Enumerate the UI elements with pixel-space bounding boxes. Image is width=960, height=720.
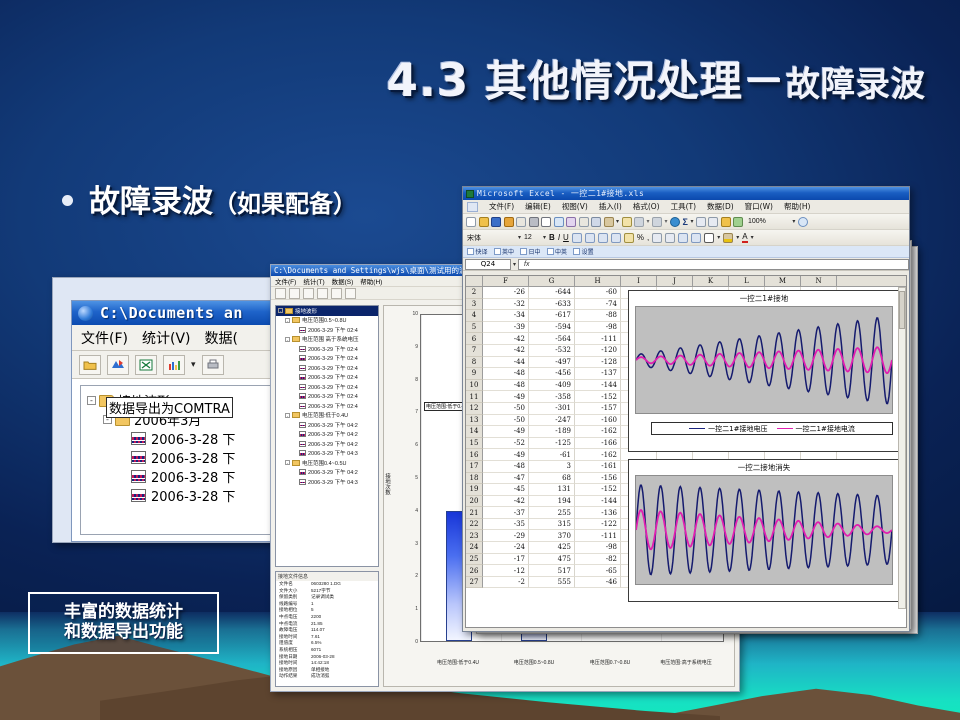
folder-icon — [292, 317, 300, 323]
sort-ascending-icon[interactable] — [696, 217, 706, 227]
excel-icon[interactable] — [303, 288, 314, 299]
scrollbar-thumb[interactable] — [899, 291, 905, 329]
table-cell[interactable]: -617 — [529, 310, 575, 322]
row-header[interactable]: 8 — [466, 357, 483, 369]
font-color-icon[interactable]: A — [742, 233, 747, 243]
y-tick-label: 6 — [415, 442, 418, 448]
help-icon[interactable] — [798, 217, 808, 227]
autosum-dropdown-icon[interactable]: ▾ — [690, 218, 693, 225]
left-window[interactable]: C:\Documents an 文件(F) 统计(V) 数据( ▾ -接地波形-… — [52, 277, 280, 543]
y-tick-label: 1 — [415, 606, 418, 612]
table-cell[interactable]: -61 — [529, 449, 575, 461]
table-cell[interactable]: -594 — [529, 322, 575, 334]
info-value: 成功消弧 — [311, 673, 329, 680]
increase-decimal-icon[interactable] — [652, 233, 662, 243]
info-row: 中点电压2200 — [276, 614, 378, 621]
waveform-file-icon — [299, 374, 306, 380]
merge-cells-icon[interactable] — [611, 233, 621, 243]
bold-button[interactable]: B — [549, 233, 555, 242]
comma-icon[interactable]: , — [647, 233, 649, 242]
decrease-indent-icon[interactable] — [678, 233, 688, 243]
info-key: 文件名 — [279, 581, 311, 588]
row-header[interactable]: 12 — [466, 403, 483, 415]
table-cell[interactable]: -456 — [529, 368, 575, 380]
fill-color-dropdown-icon[interactable]: ▾ — [736, 234, 739, 241]
table-cell[interactable]: -50 — [483, 415, 529, 427]
table-cell[interactable]: 131 — [529, 484, 575, 496]
bullet-dot-icon — [62, 195, 73, 206]
menu-item-window[interactable]: 窗口(W) — [745, 201, 773, 212]
redo-icon[interactable] — [652, 217, 662, 227]
column-headers[interactable]: FGHIJKLMN — [466, 276, 906, 287]
table-cell[interactable]: 194 — [529, 496, 575, 508]
paste-icon[interactable] — [604, 217, 614, 227]
menu-item-format[interactable]: 格式(O) — [633, 201, 660, 212]
drawing-icon[interactable] — [733, 217, 743, 227]
table-cell[interactable]: -152 — [575, 484, 621, 496]
tree-item-label: 2006-3-29 下午 02:4 — [308, 402, 358, 410]
export-icon[interactable] — [289, 288, 300, 299]
font-size-dropdown-icon[interactable]: ▾ — [543, 234, 546, 241]
info-value: 2200 — [311, 614, 321, 621]
y-tick-label: 5 — [415, 475, 418, 481]
name-box-dropdown-icon[interactable]: ▾ — [513, 261, 516, 268]
table-cell[interactable]: 370 — [529, 530, 575, 542]
table-cell[interactable]: -111 — [575, 530, 621, 542]
tree-item[interactable]: 2006-3-28 下 — [87, 429, 277, 448]
table-cell[interactable]: -48 — [483, 368, 529, 380]
tree-item[interactable]: -电压范围0.4~0.5U — [276, 458, 378, 468]
print-icon[interactable] — [529, 217, 539, 227]
tree-item-label: 接地波形 — [295, 307, 317, 315]
print-icon[interactable] — [202, 355, 224, 375]
table-cell[interactable]: 3 — [529, 461, 575, 473]
tree-item-label: 2006-3-28 下 — [151, 467, 235, 486]
undo-icon[interactable] — [634, 217, 644, 227]
menu-item-statistics[interactable]: 统计(T) — [303, 276, 324, 286]
save-icon[interactable] — [491, 217, 501, 227]
table-cell[interactable]: -162 — [575, 426, 621, 438]
table-cell[interactable]: -358 — [529, 391, 575, 403]
menu-item-tools[interactable]: 工具(T) — [671, 201, 696, 212]
tree-item[interactable]: 2006-3-29 下午 02:4 — [276, 325, 378, 335]
excel-grid[interactable]: FGHIJKLMN 2-26-644-603-32-633-744-34-617… — [465, 275, 907, 628]
table-cell[interactable]: -111 — [575, 333, 621, 345]
tree-item[interactable]: 2006-3-29 下午 02:4 — [276, 373, 378, 383]
x-tick-label: 电压范围:低于0.4U — [437, 659, 479, 666]
row-header[interactable]: 2 — [466, 287, 483, 299]
excel-menubar[interactable]: 文件(F) 编辑(E) 视图(V) 插入(I) 格式(O) 工具(T) 数据(D… — [463, 200, 909, 214]
tree-item[interactable]: 2006-3-28 下 — [87, 467, 277, 486]
tree-expander-icon[interactable]: - — [87, 396, 96, 405]
menu-item-file[interactable]: 文件(F) — [489, 201, 514, 212]
folder-icon — [292, 412, 300, 418]
bar-chart-icon[interactable] — [317, 288, 328, 299]
table-cell[interactable]: -409 — [529, 380, 575, 392]
excel-window[interactable]: Microsoft Excel - 一控二1#接地.xls 文件(F) 编辑(E… — [462, 186, 910, 632]
tree-item[interactable]: -电压范围 高于系统电压 — [276, 335, 378, 345]
table-cell[interactable]: 68 — [529, 473, 575, 485]
table-cell[interactable]: -26 — [483, 287, 529, 299]
column-header[interactable]: N — [801, 276, 837, 286]
tree-item[interactable]: -接地波形 — [276, 306, 378, 316]
row-header[interactable]: 15 — [466, 438, 483, 450]
left-window-title: C:\Documents an — [100, 304, 243, 322]
table-cell[interactable]: -42 — [483, 345, 529, 357]
print-icon[interactable] — [331, 288, 342, 299]
table-cell[interactable]: -32 — [483, 299, 529, 311]
table-cell[interactable]: -52 — [483, 438, 529, 450]
tree-expander-icon[interactable]: - — [285, 337, 290, 342]
tree-item-label: 2006-3-29 下午 04:2 — [308, 440, 358, 448]
table-cell[interactable]: -144 — [575, 496, 621, 508]
table-cell[interactable]: 475 — [529, 554, 575, 566]
underline-button[interactable]: U — [563, 233, 569, 242]
row-header[interactable]: 11 — [466, 391, 483, 403]
lang-label-1: 英中 — [502, 247, 514, 256]
percent-icon[interactable]: % — [637, 233, 644, 242]
tree-item[interactable]: 2006-3-29 下午 04:3 — [276, 477, 378, 487]
print-preview-icon[interactable] — [541, 217, 551, 227]
column-header[interactable]: G — [529, 276, 575, 286]
table-cell[interactable]: -42 — [483, 333, 529, 345]
menu-item-data[interactable]: 数据(S) — [332, 276, 354, 286]
borders-icon[interactable] — [704, 233, 714, 243]
key-icon[interactable] — [345, 288, 356, 299]
tree-item[interactable]: 2006-3-29 下午 04:2 — [276, 430, 378, 440]
table-cell[interactable]: -45 — [483, 484, 529, 496]
table-cell[interactable]: -49 — [483, 426, 529, 438]
table-cell[interactable]: -49 — [483, 449, 529, 461]
tree-item[interactable]: 2006-3-29 下午 04:2 — [276, 420, 378, 430]
paste-dropdown-icon[interactable]: ▾ — [616, 218, 619, 225]
open-folder-icon[interactable] — [79, 355, 101, 375]
increase-indent-icon[interactable] — [691, 233, 701, 243]
table-cell[interactable]: -24 — [483, 542, 529, 554]
table-cell[interactable]: -247 — [529, 415, 575, 427]
table-cell[interactable]: -157 — [575, 403, 621, 415]
table-cell[interactable]: -497 — [529, 357, 575, 369]
menu-item-help[interactable]: 帮助(H) — [784, 201, 811, 212]
excel-vertical-scrollbar[interactable] — [898, 287, 906, 609]
table-cell[interactable]: -644 — [529, 287, 575, 299]
table-cell[interactable]: -35 — [483, 519, 529, 531]
font-name-dropdown-icon[interactable]: ▾ — [518, 234, 521, 241]
column-header[interactable]: M — [765, 276, 801, 286]
lang-settings[interactable]: 设置 — [573, 247, 594, 256]
legend-line-current — [777, 428, 793, 429]
left-window-menubar[interactable]: 文件(F) 统计(V) 数据( — [72, 325, 278, 351]
lang-zh-en[interactable]: 中英 — [547, 247, 568, 256]
table-cell[interactable]: -98 — [575, 542, 621, 554]
column-header[interactable]: J — [657, 276, 693, 286]
info-value: 1 — [311, 601, 314, 608]
table-cell[interactable]: 315 — [529, 519, 575, 531]
row-header[interactable]: 21 — [466, 507, 483, 519]
row-header[interactable]: 26 — [466, 565, 483, 577]
table-cell[interactable]: 255 — [529, 507, 575, 519]
table-cell[interactable]: -189 — [529, 426, 575, 438]
tree-item-label: 电压范围0.4~0.5U — [302, 459, 346, 467]
table-cell[interactable]: -42 — [483, 496, 529, 508]
permission-icon[interactable] — [504, 217, 514, 227]
row-header[interactable]: 7 — [466, 345, 483, 357]
italic-button[interactable]: I — [558, 233, 560, 242]
table-cell[interactable]: -60 — [575, 287, 621, 299]
menu-item-data[interactable]: 数据(D) — [707, 201, 734, 212]
autosum-icon[interactable]: Σ — [683, 217, 688, 227]
waveform-file-icon — [299, 384, 306, 390]
row-header[interactable]: 13 — [466, 415, 483, 427]
tree-item[interactable]: 2006-3-29 下午 04:2 — [276, 468, 378, 478]
lang-label-4: 设置 — [582, 247, 594, 256]
align-center-icon[interactable] — [585, 233, 595, 243]
chart2-title: 一控二接地消失 — [629, 460, 899, 473]
left-window-toolbar[interactable]: ▾ — [72, 351, 278, 379]
table-cell[interactable]: -633 — [529, 299, 575, 311]
table-cell[interactable]: -44 — [483, 357, 529, 369]
row-header[interactable]: 5 — [466, 322, 483, 334]
row-header[interactable]: 20 — [466, 496, 483, 508]
zoom-dropdown-icon[interactable]: ▾ — [792, 218, 795, 225]
tree-item[interactable]: 2006-3-29 下午 04:3 — [276, 449, 378, 459]
email-icon[interactable] — [516, 217, 526, 227]
align-left-icon[interactable] — [572, 233, 582, 243]
gear-icon — [573, 248, 580, 255]
bar-chart-icon[interactable] — [163, 355, 185, 375]
table-cell[interactable]: -2 — [483, 577, 529, 589]
menu-item-file[interactable]: 文件(F) — [275, 276, 296, 286]
table-cell[interactable]: -166 — [575, 438, 621, 450]
row-header[interactable]: 25 — [466, 554, 483, 566]
row-header[interactable]: 19 — [466, 484, 483, 496]
table-cell[interactable]: -46 — [575, 577, 621, 589]
lang-en-zh[interactable]: 英中 — [494, 247, 515, 256]
tree-item[interactable]: 2006-3-28 下 — [87, 448, 277, 467]
info-row: 阻值度6.5% — [276, 640, 378, 647]
table-cell[interactable]: -161 — [575, 461, 621, 473]
left-window-titlebar[interactable]: C:\Documents an — [72, 301, 278, 325]
tree-item[interactable]: 2006-3-29 下午 02:4 — [276, 344, 378, 354]
column-header[interactable]: I — [621, 276, 657, 286]
table-cell[interactable]: -122 — [575, 519, 621, 531]
table-cell[interactable]: -39 — [483, 322, 529, 334]
row-header[interactable]: 14 — [466, 426, 483, 438]
title-tail: 故障录波 — [786, 65, 926, 105]
row-header[interactable]: 18 — [466, 473, 483, 485]
tree-expander-icon[interactable]: - — [285, 460, 290, 465]
font-size-box[interactable]: 12 — [524, 234, 540, 241]
mid-window-tree[interactable]: -接地波形-电压范围0.5~0.8U2006-3-29 下午 02:4-电压范围… — [275, 305, 379, 567]
column-header[interactable]: K — [693, 276, 729, 286]
tree-item[interactable]: 2006-3-29 下午 04:2 — [276, 439, 378, 449]
borders-dropdown-icon[interactable]: ▾ — [717, 234, 720, 241]
table-cell[interactable]: -162 — [575, 449, 621, 461]
table-cell[interactable]: -47 — [483, 473, 529, 485]
table-cell[interactable]: -152 — [575, 391, 621, 403]
column-header[interactable]: H — [575, 276, 621, 286]
row-header[interactable]: 27 — [466, 577, 483, 589]
table-cell[interactable]: -74 — [575, 299, 621, 311]
excel-icon[interactable] — [135, 355, 157, 375]
waveform-svg — [636, 476, 892, 584]
menu-item-file[interactable]: 文件(F) — [81, 328, 128, 348]
row-header[interactable]: 22 — [466, 519, 483, 531]
table-cell[interactable]: -34 — [483, 310, 529, 322]
row-header[interactable]: 3 — [466, 299, 483, 311]
table-cell[interactable]: -156 — [575, 473, 621, 485]
caption-line-2: 和数据导出功能 — [64, 623, 183, 643]
excel-formatting-toolbar[interactable]: 宋体 ▾ 12 ▾ B I U % , ▾ ▾ A ▾ — [463, 230, 909, 246]
info-value: 14:42:18 — [311, 660, 329, 667]
tree-item[interactable]: 2006-3-29 下午 02:4 — [276, 382, 378, 392]
chart-y-axis: 012345678910 — [396, 314, 420, 642]
menu-item-insert[interactable]: 插入(I) — [599, 201, 622, 212]
undo-dropdown-icon[interactable]: ▾ — [647, 218, 650, 225]
info-key: 动作结果 — [279, 673, 311, 680]
open-icon[interactable] — [479, 217, 489, 227]
table-cell[interactable]: -160 — [575, 415, 621, 427]
info-value: 6071 — [311, 647, 321, 654]
hyperlink-icon[interactable] — [670, 217, 680, 227]
row-header[interactable]: 17 — [466, 461, 483, 473]
column-header[interactable]: L — [729, 276, 765, 286]
info-value: 114.07 — [311, 627, 325, 634]
menu-item-statistics[interactable]: 统计(V) — [142, 328, 191, 348]
table-cell[interactable]: -82 — [575, 554, 621, 566]
excel-app-icon — [466, 190, 474, 198]
row-header[interactable]: 4 — [466, 310, 483, 322]
tree-item-label: 2006-3-29 下午 04:3 — [308, 449, 358, 457]
table-cell[interactable]: -48 — [483, 380, 529, 392]
tree-item[interactable]: 2006-3-29 下午 02:4 — [276, 363, 378, 373]
menu-item-view[interactable]: 视图(V) — [562, 201, 588, 212]
table-cell[interactable]: -136 — [575, 507, 621, 519]
open-folder-icon[interactable] — [275, 288, 286, 299]
table-cell[interactable]: -65 — [575, 565, 621, 577]
tree-expander-icon[interactable]: - — [278, 308, 283, 313]
table-cell[interactable]: -120 — [575, 345, 621, 357]
tree-item[interactable]: 2006-3-29 下午 02:4 — [276, 401, 378, 411]
tree-item-label: 2006-3-29 下午 04:2 — [308, 468, 358, 476]
table-cell[interactable]: -29 — [483, 530, 529, 542]
excel-titlebar[interactable]: Microsoft Excel - 一控二1#接地.xls — [463, 187, 909, 200]
excel-formula-bar[interactable]: Q24 ▾ — [463, 258, 909, 271]
currency-icon[interactable] — [624, 233, 634, 243]
research-icon[interactable] — [566, 217, 576, 227]
tree-item[interactable]: 2006-3-29 下午 02:4 — [276, 392, 378, 402]
copy-icon[interactable] — [591, 217, 601, 227]
table-cell[interactable]: -301 — [529, 403, 575, 415]
legend-line-voltage — [689, 428, 705, 429]
excel-standard-toolbar[interactable]: ▾ ▾ ▾ Σ ▾ 100% ▾ — [463, 214, 909, 230]
chart2-plot-area — [635, 475, 893, 585]
formula-input[interactable] — [518, 259, 909, 270]
cut-icon[interactable] — [579, 217, 589, 227]
tree-expander-icon[interactable]: - — [285, 413, 290, 418]
export-icon[interactable] — [107, 355, 129, 375]
table-cell[interactable]: -125 — [529, 438, 575, 450]
tree-item[interactable]: 2006-3-28 下 — [87, 486, 277, 505]
zoom-level[interactable]: 100% — [748, 218, 766, 225]
menu-item-data[interactable]: 数据( — [205, 328, 238, 348]
row-header[interactable]: 10 — [466, 380, 483, 392]
row-header[interactable]: 23 — [466, 530, 483, 542]
sort-descending-icon[interactable] — [708, 217, 718, 227]
menu-item-edit[interactable]: 编辑(E) — [525, 201, 551, 212]
tree-item-label: 电压范围0.5~0.8U — [302, 316, 346, 324]
table-cell[interactable]: 555 — [529, 577, 575, 589]
format-painter-icon[interactable] — [622, 217, 632, 227]
font-color-dropdown-icon[interactable]: ▾ — [751, 234, 754, 241]
tree-item[interactable]: -电压范围0.5~0.8U — [276, 316, 378, 326]
tree-expander-icon[interactable]: - — [285, 318, 290, 323]
row-header[interactable]: 24 — [466, 542, 483, 554]
excel-language-bar[interactable]: 快译 英中 日中 中英 设置 — [463, 246, 909, 258]
table-cell[interactable]: -48 — [483, 461, 529, 473]
folder-icon — [292, 336, 300, 342]
table-cell[interactable]: -17 — [483, 554, 529, 566]
select-all-corner[interactable] — [466, 276, 483, 286]
row-header[interactable]: 9 — [466, 368, 483, 380]
font-name-box[interactable]: 宋体 — [467, 233, 515, 243]
redo-dropdown-icon[interactable]: ▾ — [665, 218, 668, 225]
table-cell[interactable]: -137 — [575, 368, 621, 380]
table-cell[interactable]: -50 — [483, 403, 529, 415]
align-right-icon[interactable] — [598, 233, 608, 243]
legend-label-voltage: 一控二1#接地电压 — [708, 424, 767, 434]
tree-item[interactable]: 2006-3-29 下午 02:4 — [276, 354, 378, 364]
table-cell[interactable]: -532 — [529, 345, 575, 357]
table-cell[interactable]: -88 — [575, 310, 621, 322]
decrease-decimal-icon[interactable] — [665, 233, 675, 243]
lang-quick-translate[interactable]: 快译 — [467, 247, 488, 256]
chart1-plot-area — [635, 306, 893, 414]
table-cell[interactable]: -98 — [575, 322, 621, 334]
row-header[interactable]: 16 — [466, 449, 483, 461]
new-icon[interactable] — [466, 217, 476, 227]
column-header[interactable]: F — [483, 276, 529, 286]
tree-item[interactable]: -电压范围:低于0.4U — [276, 411, 378, 421]
folder-icon — [292, 460, 300, 466]
table-cell[interactable]: -37 — [483, 507, 529, 519]
fill-color-icon[interactable] — [723, 233, 733, 243]
row-header[interactable]: 6 — [466, 333, 483, 345]
chart-wizard-icon[interactable] — [721, 217, 731, 227]
table-cell[interactable]: 517 — [529, 565, 575, 577]
table-cell[interactable]: -128 — [575, 357, 621, 369]
info-row: 接地相位5 — [276, 607, 378, 614]
embedded-chart-2[interactable]: 一控二接地消失 — [628, 459, 900, 602]
table-cell[interactable]: -12 — [483, 565, 529, 577]
embedded-chart-1[interactable]: 一控二1#接地 一控二1#接地电压 一控二1#接地电流 — [628, 290, 900, 452]
tree-item-label: 2006-3-29 下午 04:2 — [308, 430, 358, 438]
info-row: 保留类别记录调试类 — [276, 594, 378, 601]
ground-file-info-panel: 接地文件信息 文件名0603280 1.DG文件大小5217字节保留类别记录调试… — [275, 571, 379, 687]
menu-item-help[interactable]: 帮助(H) — [360, 276, 382, 286]
spelling-icon[interactable] — [554, 217, 564, 227]
waveform-file-icon — [131, 451, 146, 464]
lang-ja-zh[interactable]: 日中 — [520, 247, 541, 256]
table-cell[interactable]: -564 — [529, 333, 575, 345]
info-value: 21.85 — [311, 621, 323, 628]
table-cell[interactable]: 425 — [529, 542, 575, 554]
table-cell[interactable]: -144 — [575, 380, 621, 392]
name-box[interactable]: Q24 — [465, 259, 511, 270]
table-cell[interactable]: -49 — [483, 391, 529, 403]
waveform-file-icon — [131, 489, 146, 502]
dropdown-arrow-icon[interactable]: ▾ — [191, 359, 196, 370]
